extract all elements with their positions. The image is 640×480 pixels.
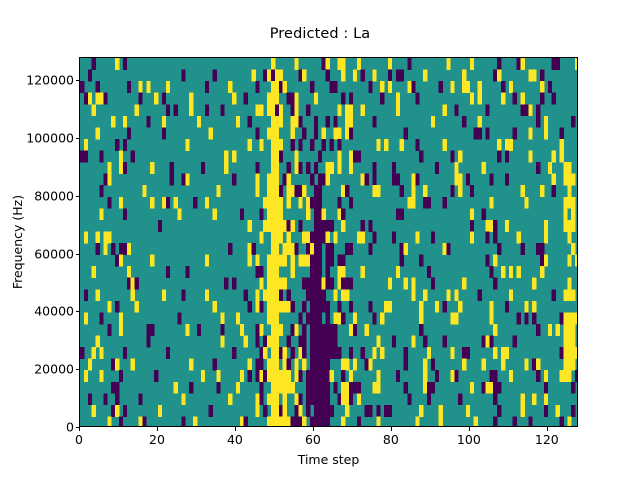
heatmap-cell	[404, 382, 408, 394]
heatmap-cell	[571, 289, 575, 301]
heatmap-cell	[478, 116, 482, 128]
heatmap-cell	[310, 301, 314, 313]
heatmap-cell	[302, 359, 306, 371]
heatmap-cell	[501, 359, 505, 371]
heatmap-cell	[310, 139, 314, 151]
heatmap-cell	[345, 127, 349, 139]
heatmap-cell	[567, 197, 571, 209]
heatmap-cell	[489, 220, 493, 232]
heatmap-cell	[84, 289, 88, 301]
heatmap-cell	[240, 416, 244, 427]
heatmap-cell	[318, 266, 322, 278]
heatmap-cell	[462, 359, 466, 371]
heatmap-cell	[294, 104, 298, 116]
heatmap-cell	[123, 243, 127, 255]
heatmap-cell	[189, 93, 193, 105]
heatmap-cell	[326, 312, 330, 324]
heatmap-cell	[275, 324, 279, 336]
heatmap-cell	[466, 174, 470, 186]
heatmap-cell	[131, 289, 135, 301]
heatmap-cell	[571, 220, 575, 232]
heatmap-cell	[341, 185, 345, 197]
heatmap-cell	[376, 370, 380, 382]
heatmap-cell	[255, 289, 259, 301]
heatmap-cell	[396, 266, 400, 278]
heatmap-cell	[302, 301, 306, 313]
heatmap-cell	[294, 243, 298, 255]
heatmap-cell	[376, 185, 380, 197]
heatmap-cell	[560, 312, 564, 324]
heatmap-cell	[275, 382, 279, 394]
heatmap-cell	[392, 231, 396, 243]
heatmap-cell	[396, 208, 400, 220]
heatmap-cell	[560, 347, 564, 359]
heatmap-cell	[135, 301, 139, 313]
heatmap-cell	[287, 174, 291, 186]
heatmap-cell	[267, 301, 271, 313]
heatmap-cell	[470, 208, 474, 220]
heatmap-cell	[267, 208, 271, 220]
heatmap-cell	[318, 336, 322, 348]
heatmap-cell	[322, 301, 326, 313]
heatmap-cell	[298, 416, 302, 427]
heatmap-cell	[271, 116, 275, 128]
heatmap-cell	[544, 393, 548, 405]
heatmap-cell	[271, 416, 275, 427]
heatmap-cell	[532, 359, 536, 371]
heatmap-cell	[509, 266, 513, 278]
heatmap-cell	[372, 174, 376, 186]
heatmap-cell	[298, 220, 302, 232]
heatmap-cell	[567, 312, 571, 324]
heatmap-cell	[330, 220, 334, 232]
heatmap-cell	[353, 359, 357, 371]
heatmap-cell	[189, 104, 193, 116]
heatmap-cell	[291, 382, 295, 394]
heatmap-cell	[337, 208, 341, 220]
heatmap-cell	[201, 370, 205, 382]
heatmap-cell	[220, 324, 224, 336]
heatmap-cell	[92, 347, 96, 359]
heatmap-cell	[302, 324, 306, 336]
heatmap-cell	[84, 151, 88, 163]
heatmap-cell	[291, 139, 295, 151]
heatmap-cell	[115, 359, 119, 371]
heatmap-cell	[271, 58, 275, 70]
heatmap-cell	[279, 104, 283, 116]
heatmap-cell	[439, 81, 443, 93]
heatmap-cell	[287, 197, 291, 209]
heatmap-cell	[259, 104, 263, 116]
heatmap-cell	[563, 197, 567, 209]
heatmap-cell	[279, 301, 283, 313]
heatmap-cell	[271, 266, 275, 278]
heatmap-cell	[505, 151, 509, 163]
heatmap-cell	[380, 312, 384, 324]
heatmap-cell	[361, 347, 365, 359]
heatmap-cell	[267, 393, 271, 405]
heatmap-cell	[462, 278, 466, 290]
heatmap-cell	[291, 324, 295, 336]
heatmap-cell	[291, 104, 295, 116]
heatmap-cell	[181, 393, 185, 405]
heatmap-cell	[271, 174, 275, 186]
heatmap-cell	[119, 370, 123, 382]
heatmap-cell	[524, 197, 528, 209]
heatmap-cell	[505, 139, 509, 151]
heatmap-cell	[567, 416, 571, 427]
heatmap-cell	[536, 116, 540, 128]
heatmap-cell	[341, 208, 345, 220]
heatmap-cell	[361, 220, 365, 232]
heatmap-cell	[575, 312, 578, 324]
heatmap-cell	[123, 58, 127, 70]
heatmap-cell	[267, 359, 271, 371]
heatmap-cell	[248, 116, 252, 128]
heatmap-cell	[275, 197, 279, 209]
heatmap-cell	[513, 416, 517, 427]
heatmap-cell	[493, 220, 497, 232]
heatmap-cell	[345, 405, 349, 417]
heatmap-cell	[314, 416, 318, 427]
heatmap-cell	[396, 174, 400, 186]
heatmap-cell	[111, 243, 115, 255]
heatmap-cell	[84, 139, 88, 151]
heatmap-cell	[291, 185, 295, 197]
heatmap-cell	[224, 151, 228, 163]
heatmap-cell	[528, 416, 532, 427]
heatmap-image	[80, 58, 578, 427]
heatmap-cell	[291, 127, 295, 139]
heatmap-cell	[536, 324, 540, 336]
heatmap-cell	[540, 93, 544, 105]
heatmap-cell	[349, 104, 353, 116]
heatmap-cell	[493, 70, 497, 82]
heatmap-cell	[411, 185, 415, 197]
heatmap-cell	[119, 312, 123, 324]
heatmap-cell	[271, 301, 275, 313]
heatmap-cell	[310, 243, 314, 255]
heatmap-cell	[283, 243, 287, 255]
heatmap-cell	[341, 312, 345, 324]
heatmap-cell	[560, 370, 564, 382]
heatmap-cell	[485, 231, 489, 243]
heatmap-cell	[255, 359, 259, 371]
heatmap-cell	[349, 324, 353, 336]
heatmap-cell	[493, 370, 497, 382]
heatmap-cell	[349, 393, 353, 405]
heatmap-cell	[103, 174, 107, 186]
heatmap-cell	[341, 266, 345, 278]
heatmap-cell	[131, 278, 135, 290]
heatmap-cell	[540, 266, 544, 278]
heatmap-cell	[532, 393, 536, 405]
x-tick-label: 80	[383, 432, 399, 447]
heatmap-cell	[298, 139, 302, 151]
heatmap-cell	[337, 104, 341, 116]
heatmap-cell	[349, 243, 353, 255]
heatmap-cell	[326, 347, 330, 359]
heatmap-cell	[267, 289, 271, 301]
heatmap-cell	[107, 197, 111, 209]
heatmap-cell	[271, 312, 275, 324]
heatmap-cell	[517, 266, 521, 278]
heatmap-cell	[330, 139, 334, 151]
heatmap-cell	[450, 185, 454, 197]
heatmap-cell	[267, 220, 271, 232]
heatmap-cell	[248, 220, 252, 232]
heatmap-cell	[294, 93, 298, 105]
heatmap-cell	[443, 336, 447, 348]
heatmap-cell	[248, 243, 252, 255]
heatmap-cell	[482, 208, 486, 220]
heatmap-cell	[337, 393, 341, 405]
heatmap-cell	[162, 197, 166, 209]
heatmap-cell	[275, 359, 279, 371]
heatmap-cell	[540, 185, 544, 197]
heatmap-cell	[279, 197, 283, 209]
heatmap-cell	[279, 370, 283, 382]
heatmap-cell	[99, 93, 103, 105]
x-tick-label: 20	[149, 432, 165, 447]
heatmap-cell	[407, 81, 411, 93]
heatmap-cell	[310, 255, 314, 267]
heatmap-cell	[314, 336, 318, 348]
heatmap-cell	[267, 127, 271, 139]
x-tick-mark	[79, 427, 80, 431]
heatmap-cell	[240, 208, 244, 220]
heatmap-cell	[563, 174, 567, 186]
heatmap-cell	[333, 127, 337, 139]
heatmap-cell	[267, 174, 271, 186]
heatmap-cell	[536, 359, 540, 371]
heatmap-cell	[489, 301, 493, 313]
heatmap-cell	[361, 266, 365, 278]
heatmap-cell	[314, 197, 318, 209]
heatmap-cell	[454, 289, 458, 301]
heatmap-cell	[513, 336, 517, 348]
heatmap-cell	[310, 174, 314, 186]
heatmap-cell	[271, 370, 275, 382]
heatmap-cell	[306, 208, 310, 220]
heatmap-cell	[400, 185, 404, 197]
heatmap-cell	[248, 359, 252, 371]
heatmap-cell	[536, 243, 540, 255]
heatmap-cell	[314, 220, 318, 232]
heatmap-cell	[99, 208, 103, 220]
heatmap-cell	[349, 197, 353, 209]
heatmap-cell	[552, 185, 556, 197]
heatmap-cell	[571, 208, 575, 220]
heatmap-cell	[384, 139, 388, 151]
heatmap-cell	[357, 393, 361, 405]
heatmap-cell	[419, 255, 423, 267]
heatmap-cell	[345, 185, 349, 197]
heatmap-cell	[287, 231, 291, 243]
heatmap-cell	[84, 231, 88, 243]
heatmap-cell	[181, 70, 185, 82]
heatmap-cell	[103, 243, 107, 255]
heatmap-cell	[345, 278, 349, 290]
heatmap-cell	[333, 289, 337, 301]
heatmap-cell	[427, 266, 431, 278]
heatmap-cell	[197, 116, 201, 128]
heatmap-cell	[142, 185, 146, 197]
heatmap-cell	[489, 382, 493, 394]
heatmap-cell	[318, 208, 322, 220]
heatmap-cell	[271, 185, 275, 197]
heatmap-cell	[454, 370, 458, 382]
heatmap-cell	[443, 139, 447, 151]
heatmap-cell	[536, 104, 540, 116]
heatmap-cell	[470, 382, 474, 394]
heatmap-cell	[493, 255, 497, 267]
heatmap-cell	[427, 197, 431, 209]
heatmap-cell	[450, 347, 454, 359]
heatmap-cell	[326, 301, 330, 313]
heatmap-cell	[372, 162, 376, 174]
heatmap-cell	[423, 370, 427, 382]
heatmap-cell	[267, 336, 271, 348]
heatmap-cell	[318, 151, 322, 163]
heatmap-cell	[283, 301, 287, 313]
heatmap-cell	[415, 139, 419, 151]
heatmap-cell	[443, 243, 447, 255]
heatmap-cell	[248, 255, 252, 267]
heatmap-cell	[275, 301, 279, 313]
heatmap-cell	[392, 174, 396, 186]
heatmap-cell	[521, 58, 525, 70]
heatmap-cell	[92, 405, 96, 417]
heatmap-cell	[524, 301, 528, 313]
heatmap-cell	[552, 289, 556, 301]
heatmap-cell	[493, 347, 497, 359]
heatmap-cell	[326, 70, 330, 82]
heatmap-cell	[326, 116, 330, 128]
heatmap-cell	[388, 301, 392, 313]
heatmap-cell	[485, 255, 489, 267]
heatmap-cell	[107, 231, 111, 243]
heatmap-cell	[240, 324, 244, 336]
heatmap-cell	[384, 301, 388, 313]
heatmap-cell	[205, 289, 209, 301]
heatmap-cell	[318, 382, 322, 394]
heatmap-cell	[185, 174, 189, 186]
heatmap-cell	[279, 289, 283, 301]
heatmap-cell	[497, 139, 501, 151]
heatmap-cell	[563, 312, 567, 324]
heatmap-cell	[528, 127, 532, 139]
heatmap-cell	[318, 416, 322, 427]
heatmap-cell	[138, 393, 142, 405]
heatmap-cell	[349, 162, 353, 174]
heatmap-cell	[415, 174, 419, 186]
heatmap-cell	[103, 231, 107, 243]
heatmap-cell	[310, 416, 314, 427]
heatmap-cell	[368, 359, 372, 371]
heatmap-cell	[509, 81, 513, 93]
heatmap-cell	[337, 151, 341, 163]
heatmap-cell	[567, 255, 571, 267]
heatmap-cell	[314, 208, 318, 220]
heatmap-cell	[123, 405, 127, 417]
heatmap-cell	[462, 347, 466, 359]
heatmap-cell	[544, 405, 548, 417]
heatmap-cell	[283, 359, 287, 371]
heatmap-cell	[310, 289, 314, 301]
heatmap-cell	[372, 312, 376, 324]
heatmap-cell	[166, 104, 170, 116]
heatmap-cell	[310, 382, 314, 394]
heatmap-cell	[275, 139, 279, 151]
y-tick-label: 0	[66, 420, 74, 435]
heatmap-cell	[571, 382, 575, 394]
heatmap-cell	[166, 266, 170, 278]
heatmap-cell	[552, 174, 556, 186]
heatmap-cell	[294, 324, 298, 336]
heatmap-cell	[563, 347, 567, 359]
heatmap-cell	[306, 393, 310, 405]
heatmap-cell	[177, 208, 181, 220]
heatmap-cell	[162, 116, 166, 128]
heatmap-cell	[326, 255, 330, 267]
heatmap-cell	[314, 382, 318, 394]
heatmap-cell	[318, 393, 322, 405]
heatmap-cell	[368, 220, 372, 232]
heatmap-cell	[310, 231, 314, 243]
heatmap-cell	[563, 208, 567, 220]
heatmap-cell	[291, 243, 295, 255]
heatmap-cell	[279, 151, 283, 163]
heatmap-cell	[279, 255, 283, 267]
heatmap-cell	[193, 416, 197, 427]
heatmap-cell	[544, 116, 548, 128]
heatmap-cell	[287, 93, 291, 105]
heatmap-cell	[505, 220, 509, 232]
heatmap-cell	[213, 301, 217, 313]
heatmap-cell	[263, 220, 267, 232]
heatmap-cell	[228, 81, 232, 93]
heatmap-cell	[380, 93, 384, 105]
heatmap-cell	[337, 278, 341, 290]
heatmap-cell	[205, 104, 209, 116]
heatmap-cell	[372, 185, 376, 197]
heatmap-cell	[314, 127, 318, 139]
heatmap-cell	[103, 393, 107, 405]
heatmap-cell	[267, 185, 271, 197]
heatmap-cell	[267, 255, 271, 267]
heatmap-cell	[345, 359, 349, 371]
heatmap-cell	[509, 139, 513, 151]
heatmap-cell	[294, 370, 298, 382]
heatmap-cell	[255, 162, 259, 174]
heatmap-cell	[361, 174, 365, 186]
heatmap-cell	[259, 359, 263, 371]
heatmap-cell	[154, 93, 158, 105]
heatmap-cell	[411, 278, 415, 290]
heatmap-cell	[291, 93, 295, 105]
heatmap-cell	[96, 231, 100, 243]
heatmap-cell	[326, 359, 330, 371]
y-tick-label: 40000	[34, 304, 74, 319]
heatmap-cell	[275, 416, 279, 427]
heatmap-cell	[575, 255, 578, 267]
heatmap-cell	[330, 370, 334, 382]
heatmap-cell	[544, 231, 548, 243]
heatmap-cell	[99, 312, 103, 324]
heatmap-cell	[283, 382, 287, 394]
heatmap-cell	[322, 220, 326, 232]
